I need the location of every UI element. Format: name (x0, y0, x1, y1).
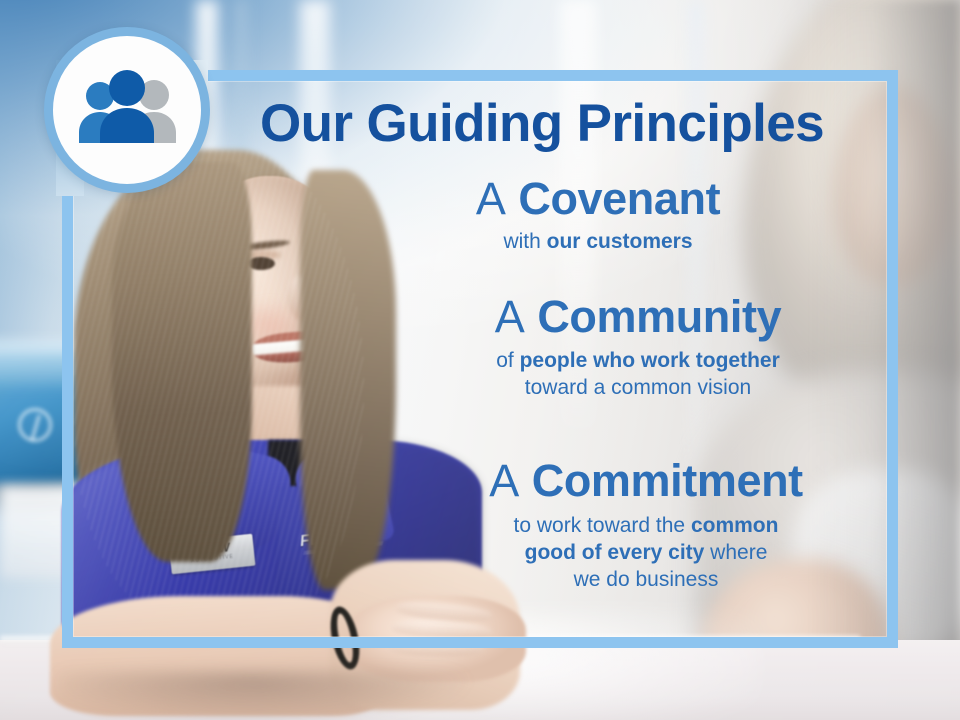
principle-description: with our customers (358, 229, 838, 256)
principle-description-segment: people who work together (520, 349, 780, 372)
principle-description-segment: with (503, 230, 546, 253)
principle-item: A Commitment to work toward the commongo… (400, 458, 892, 594)
principle-item: A Community of people who work togethert… (398, 294, 878, 402)
guiding-principles-graphic: FLOW AUTOMOTIVE FLOW (0, 0, 960, 720)
principle-description-segment: common (691, 514, 779, 537)
principle-article: A (476, 173, 506, 224)
principle-description-line: with our customers (358, 229, 838, 256)
principle-description: to work toward the commongood of every c… (400, 513, 892, 594)
principle-description-segment: our customers (547, 230, 693, 253)
principle-keyword: Covenant (518, 173, 720, 224)
principle-heading: A Covenant (358, 176, 838, 222)
principle-description-line: good of every city where (400, 540, 892, 567)
principle-description-line: toward a common vision (398, 375, 878, 402)
principle-description-segment: toward a common vision (525, 376, 751, 399)
principle-description: of people who work togethertoward a comm… (398, 348, 878, 402)
principle-heading: A Community (398, 294, 878, 340)
principle-article: A (495, 291, 525, 342)
principle-keyword: Commitment (532, 455, 803, 506)
principle-description-line: we do business (400, 567, 892, 594)
principle-keyword: Community (537, 291, 781, 342)
principle-description-segment: we do business (574, 568, 719, 591)
principle-description-line: to work toward the common (400, 513, 892, 540)
principle-description-line: of people who work together (398, 348, 878, 375)
principle-item: A Covenant with our customers (358, 176, 838, 256)
text-content: Our Guiding Principles A Covenant with o… (62, 70, 898, 648)
principle-description-segment: where (704, 541, 767, 564)
principle-article: A (489, 455, 519, 506)
page-title: Our Guiding Principles (212, 97, 872, 150)
principle-description-segment: of (496, 349, 519, 372)
principle-description-segment: good of every city (525, 541, 705, 564)
principle-heading: A Commitment (400, 458, 892, 504)
principle-description-segment: to work toward the (514, 514, 691, 537)
